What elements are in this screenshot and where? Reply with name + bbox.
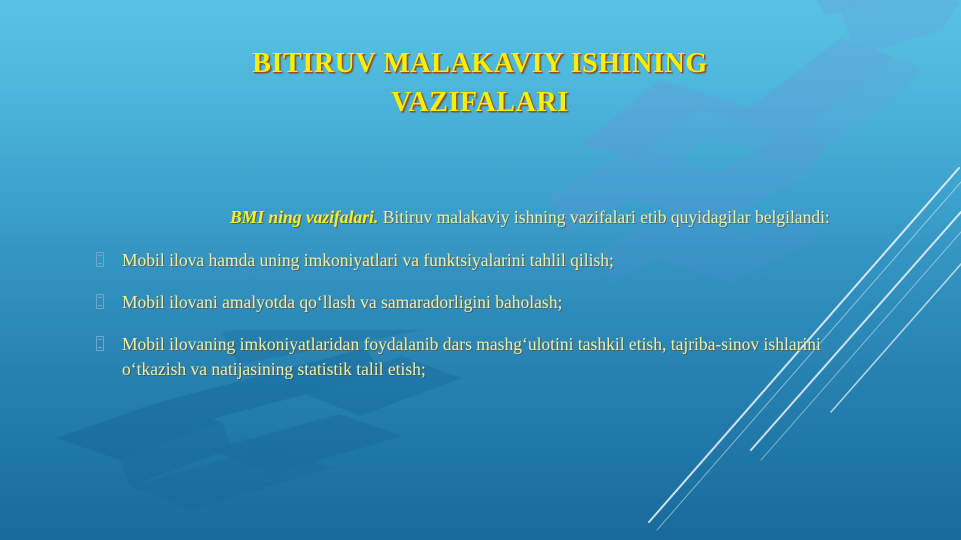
intro-lead-phrase: BMI ning vazifalari. [230, 207, 378, 227]
box-bullet-icon [96, 252, 104, 267]
intro-paragraph: BMI ning vazifalari. Bitiruv malakaviy i… [94, 205, 884, 230]
list-item-label: Mobil ilovani amalyotda qo‘llash va sama… [122, 292, 562, 312]
slide-title-line-2: VAZIFALARI [80, 83, 880, 122]
slide-title-line-1: BITIRUV MALAKAVIY ISHINING [80, 44, 880, 83]
slide-body: BMI ning vazifalari. Bitiruv malakaviy i… [94, 205, 884, 399]
list-item-label: Mobil ilova hamda uning imkoniyatlari va… [122, 250, 614, 270]
intro-rest-text: Bitiruv malakaviy ishning vazifalari eti… [378, 207, 829, 227]
presentation-slide: BITIRUV MALAKAVIY ISHINING VAZIFALARI BM… [0, 0, 961, 540]
list-item: Mobil ilova hamda uning imkoniyatlari va… [94, 248, 884, 273]
task-bullet-list: Mobil ilova hamda uning imkoniyatlari va… [94, 248, 884, 382]
list-item-label: Mobil ilovaning imkoniyatlaridan foydala… [122, 334, 821, 379]
list-item: Mobil ilovaning imkoniyatlaridan foydala… [94, 332, 884, 382]
list-item: Mobil ilovani amalyotda qo‘llash va sama… [94, 290, 884, 315]
box-bullet-icon [96, 294, 104, 309]
slide-title: BITIRUV MALAKAVIY ISHINING VAZIFALARI [80, 44, 880, 122]
box-bullet-icon [96, 336, 104, 351]
